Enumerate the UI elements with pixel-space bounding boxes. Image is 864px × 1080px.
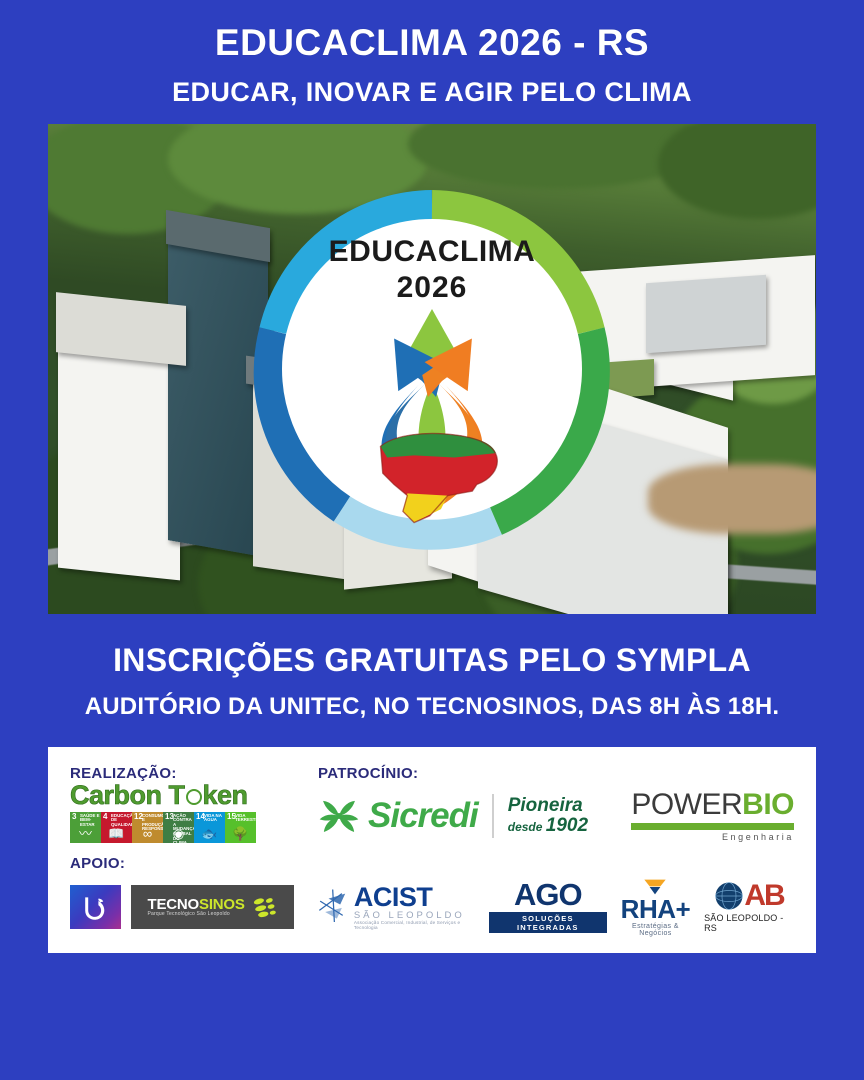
educaclima-emblem: EDUCACLIMA 2026 (246, 183, 618, 555)
sicredi-tagline: Pioneira desde 1902 (508, 796, 588, 835)
sicredi-logo: Sicredi (318, 795, 478, 837)
sicredi-tagline-line2: desde 1902 (508, 816, 588, 835)
sponsors-panel: REALIZAÇÃO: Carbon Tken 3 SAÚDE E BEM-ES… (48, 747, 816, 953)
sicredi-divider (492, 794, 494, 838)
sicredi-desde: desde (508, 820, 546, 834)
rha-sub: Estratégias & Negócios (617, 923, 694, 937)
tecnosinos-word-b: SINOS (199, 896, 245, 913)
tecnosinos-sub: Parque Tecnológico São Leopoldo (148, 912, 245, 917)
sdg-13-glyph: ◉ (173, 827, 184, 841)
powerbio-wordmark: POWERBIO (631, 790, 794, 820)
ago-logo: AGO SOLUÇÕES INTEGRADAS (489, 879, 607, 935)
acist-sub: SÃO LEOPOLDO (354, 911, 479, 921)
carbon-token-part-c: ken (203, 782, 248, 809)
sdg-icons-strip: 3 SAÚDE E BEM-ESTAR 〰 4 EDUCAÇÃO DE QUAL… (70, 812, 256, 843)
sdg-icon-13: 13 AÇÃO CONTRA A MUDANÇA GLOBAL DO CLIMA… (163, 812, 194, 843)
rha-wordmark: RHA+ (617, 896, 694, 922)
powerbio-sub: Engenharia (631, 832, 794, 842)
unitec-logo (70, 885, 121, 929)
sdg-icon-12: 12 CONSUMO E PRODUÇÃO RESPONSÁVEIS ∞ (132, 812, 163, 843)
acist-wordmark: ACIST (354, 884, 479, 911)
patrocinio-logos-row: Sicredi Pioneira desde 1902 POWERBIO Eng… (318, 790, 794, 842)
sicredi-wordmark: Sicredi (368, 796, 478, 836)
acist-sub2: Associação Comercial, Industrial, de Ser… (354, 921, 479, 930)
acist-star-icon (316, 885, 358, 929)
sicredi-tagline-line1: Pioneira (508, 796, 588, 815)
carbon-token-globe-icon (186, 789, 202, 805)
sicredi-year: 1902 (546, 815, 588, 836)
acist-logo: ACIST SÃO LEOPOLDO Associação Comercial,… (316, 884, 479, 931)
oab-wordmark: AB (714, 881, 783, 911)
sdg-12-glyph: ∞ (143, 827, 152, 841)
sdg-14-glyph: 🐟 (201, 827, 217, 841)
event-poster: EDUCACLIMA 2026 - RS EDUCAR, INOVAR E AG… (0, 0, 864, 1080)
sdg-4-glyph: 📖 (108, 827, 124, 841)
sdg-3-glyph: 〰 (79, 827, 92, 841)
venue-and-time: AUDITÓRIO DA UNITEC, NO TECNOSINOS, DAS … (0, 693, 864, 721)
page-title: EDUCACLIMA 2026 - RS (0, 22, 864, 65)
oab-globe-icon (714, 881, 744, 911)
sdg-14-name: VIDA NA ÁGUA (204, 814, 224, 823)
sdg-3-number: 3 (72, 813, 76, 821)
carbon-token-logo: Carbon Tken 3 SAÚDE E BEM-ESTAR 〰 4 EDUC… (70, 782, 256, 843)
unitec-u-icon (81, 892, 111, 922)
acist-text: ACIST SÃO LEOPOLDO Associação Comercial,… (354, 884, 479, 931)
sdg-icon-3: 3 SAÚDE E BEM-ESTAR 〰 (70, 812, 101, 843)
rha-name: RHA (621, 894, 676, 924)
registration-info: INSCRIÇÕES GRATUITAS PELO SYMPLA AUDITÓR… (0, 642, 864, 721)
tecnosinos-text: TECNOSINOS Parque Tecnológico São Leopol… (148, 897, 245, 918)
tecnosinos-wordmark: TECNOSINOS (148, 897, 245, 913)
ago-sub: SOLUÇÕES INTEGRADAS (489, 912, 607, 933)
carbon-token-part-b: n T (146, 782, 185, 809)
rha-logo: RHA+ Estratégias & Negócios (617, 878, 694, 937)
patrocinio-label: PATROCÍNIO: (318, 765, 794, 782)
oab-letters-ab: AB (744, 881, 783, 911)
powerbio-logo: POWERBIO Engenharia (631, 790, 794, 842)
apoio-row: APOIO: TECNOSINOS Parque Tecnológico São… (70, 855, 794, 937)
realizacao-column: REALIZAÇÃO: Carbon Tken 3 SAÚDE E BEM-ES… (70, 765, 318, 843)
tecnosinos-word-a: TECNO (148, 896, 200, 913)
sdg-15-name: VIDA TERRESTRE (235, 814, 255, 823)
tecnosinos-footprint-icon (252, 895, 278, 919)
registration-headline: INSCRIÇÕES GRATUITAS PELO SYMPLA (0, 642, 864, 679)
apoio-label: APOIO: (70, 855, 794, 872)
carbon-token-part-a: Carb (70, 782, 130, 809)
powerbio-underline (631, 823, 794, 830)
hero-aerial-photo: EDUCACLIMA 2026 (48, 124, 816, 614)
sponsors-top-row: REALIZAÇÃO: Carbon Tken 3 SAÚDE E BEM-ES… (70, 765, 794, 843)
patrocinio-column: PATROCÍNIO: (318, 765, 794, 842)
sdg-icon-4: 4 EDUCAÇÃO DE QUALIDADE 📖 (101, 812, 132, 843)
sdg-15-glyph: 🌳 (232, 827, 248, 841)
powerbio-word-bio: BIO (742, 788, 794, 821)
sdg-icon-15: 15 VIDA TERRESTRE 🌳 (225, 812, 256, 843)
page-subtitle: EDUCAR, INOVAR E AGIR PELO CLIMA (0, 77, 864, 108)
carbon-token-wordmark: Carbon Tken (70, 782, 256, 809)
oab-logo: AB SÃO LEOPOLDO - RS (704, 881, 794, 933)
carbon-token-letter-o: o (130, 782, 146, 809)
rha-plus: + (676, 894, 691, 924)
sdg-4-number: 4 (103, 813, 107, 821)
tecnosinos-logo: TECNOSINOS Parque Tecnológico São Leopol… (131, 885, 294, 929)
powerbio-word-power: POWER (631, 788, 742, 821)
ago-wordmark: AGO (489, 879, 607, 910)
apoio-logos-row: TECNOSINOS Parque Tecnológico São Leopol… (70, 878, 794, 937)
sdg-icon-14: 14 VIDA NA ÁGUA 🐟 (194, 812, 225, 843)
sicredi-pinwheel-icon (318, 795, 360, 837)
oab-sub: SÃO LEOPOLDO - RS (704, 913, 794, 933)
poster-header: EDUCACLIMA 2026 - RS EDUCAR, INOVAR E AG… (0, 0, 864, 108)
